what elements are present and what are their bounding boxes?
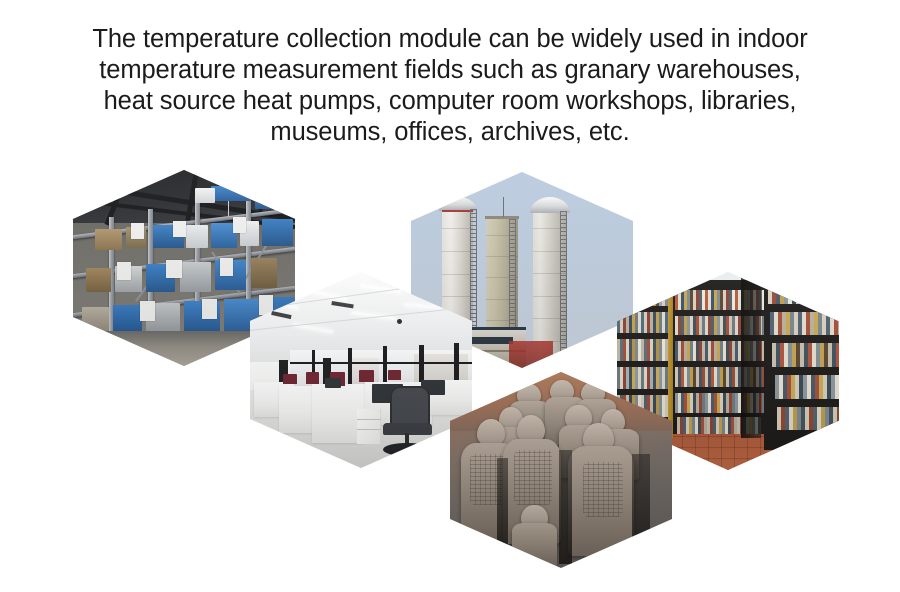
carton-box [95,229,122,251]
warrior-armor-plates [514,450,552,505]
drawer-line [357,429,381,430]
shelf-row [770,312,839,336]
silo-ladder [560,211,567,360]
carton-box [86,268,110,292]
blue-bin [262,219,293,246]
shelf-label-tag [173,221,186,237]
ceiling-speaker [397,319,402,324]
aisle-shadow [741,272,761,438]
warrior-figure-kneeling [512,523,556,568]
shadow-gap [497,458,508,556]
silo-mast [503,197,504,217]
blue-bin [211,186,251,202]
shelf-row [768,280,839,304]
white-box [186,225,208,249]
warehouse-building [509,341,553,368]
window-transom [290,362,472,364]
drawer-line [357,419,381,420]
silo-band [442,296,473,297]
silo-band [442,228,473,229]
shelf-label-tag [140,301,156,321]
shelf-label-tag [202,299,218,319]
shelf-label-tag [117,262,130,280]
page-title: The temperature collection module can be… [60,24,840,148]
shelf-label-tag [166,260,182,278]
shadow-gap [632,454,650,560]
office-chair-base [383,443,432,457]
shelf-label-tag [131,223,144,239]
wrapped-goods [180,262,211,291]
silo-band [442,251,473,252]
shadow-gap [559,450,572,564]
warrior-armor-plates [583,462,623,517]
promotional-banner: The temperature collection module can be… [0,0,900,592]
white-box [195,188,215,204]
shelf-row [775,375,839,399]
seat-back [359,370,375,382]
shelf-row [772,343,839,367]
shelf-upright [668,280,673,438]
seat-back [388,370,401,380]
blue-bin [255,194,291,210]
shelf-row [777,407,839,431]
shelf-label-tag [220,258,233,276]
seat-back [306,372,319,384]
silo-band [442,274,473,275]
silo-red-stripe [442,210,473,212]
desk-drawer-unit [357,409,381,444]
shelf-label-tag [233,217,246,233]
carton-box [251,258,278,287]
computer-monitor [325,378,341,388]
seat-back [283,374,296,384]
